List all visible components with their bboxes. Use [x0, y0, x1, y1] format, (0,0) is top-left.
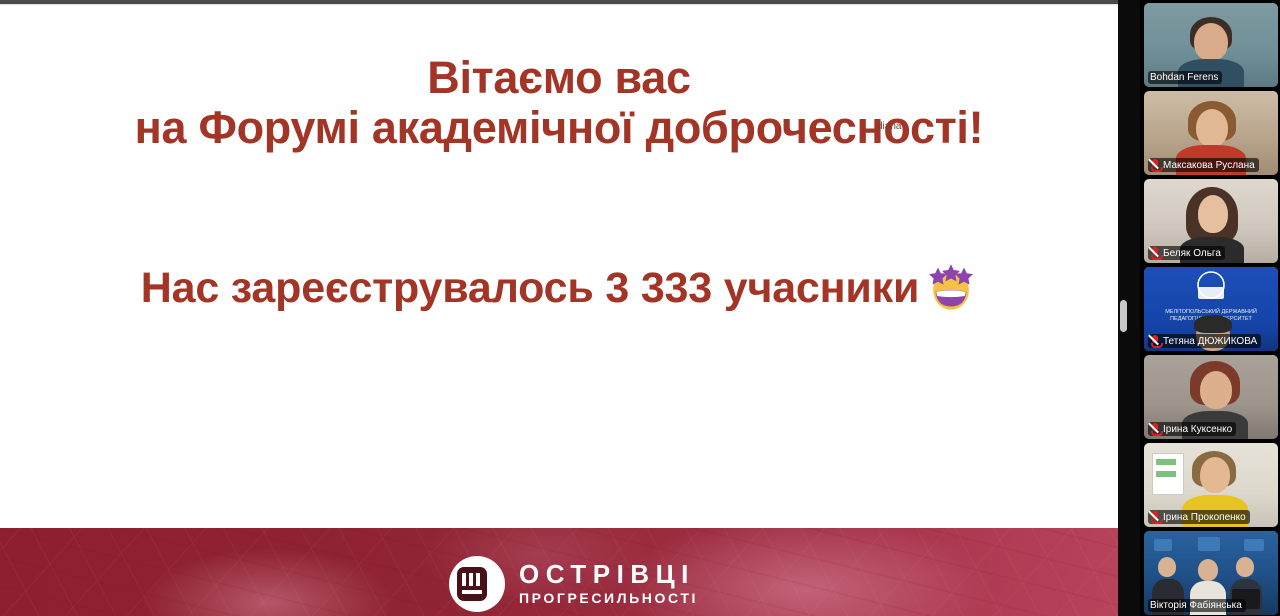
participant-name-badge: Беляк Ольга [1148, 246, 1225, 260]
participant-tile[interactable]: Bohdan Ferens [1144, 3, 1278, 87]
slide-subtitle: Нас зареєструвалось 3 333 учасники [0, 261, 1118, 313]
collapse-panel-handle[interactable] [1120, 300, 1127, 332]
participant-name: Ірина Куксенко [1163, 424, 1232, 435]
shared-screen-area[interactable]: Вітаємо вас на Форумі академічної доброч… [0, 5, 1118, 616]
participant-name: Беляк Ольга [1163, 248, 1221, 259]
presentation-slide: Вітаємо вас на Форумі академічної доброч… [0, 5, 1118, 616]
mic-muted-icon [1150, 423, 1160, 435]
participant-name-badge: Ірина Куксенко [1148, 422, 1236, 436]
mic-muted-icon [1150, 247, 1160, 259]
participant-tile[interactable]: Ірина Прокопенко [1144, 443, 1278, 527]
participant-filmstrip[interactable]: Bohdan Ferens Максакова Руслана [1140, 0, 1280, 616]
brand-tagline: ПРОГРЕСИЛЬНОСТІ [519, 590, 698, 607]
mic-muted-icon [1150, 335, 1160, 347]
participant-name-badge: Bohdan Ferens [1148, 71, 1222, 84]
participant-name-badge: Ірина Прокопенко [1148, 510, 1250, 524]
participant-name: Вікторія Фабіянська [1150, 600, 1242, 611]
mic-muted-icon [1150, 511, 1160, 523]
participant-name-badge: Тетяна ДЮЖИКОВА [1148, 334, 1261, 348]
ostrivtsi-logo-icon [449, 556, 505, 612]
participant-tile[interactable]: Беляк Ольга [1144, 179, 1278, 263]
participant-name: Тетяна ДЮЖИКОВА [1163, 336, 1257, 347]
registered-count: 3 333 [605, 264, 712, 312]
participant-tile[interactable]: МЕЛІТОПОЛЬСЬКИЙ ДЕРЖАВНИЙ ПЕДАГОГІЧНИЙ У… [1144, 267, 1278, 351]
participant-tile[interactable]: Максакова Руслана [1144, 91, 1278, 175]
participant-name: Bohdan Ferens [1150, 72, 1218, 83]
participant-name: Ірина Прокопенко [1163, 512, 1246, 523]
participant-name-badge: Вікторія Фабіянська [1148, 599, 1246, 612]
slide-title: Вітаємо вас на Форумі академічної доброч… [0, 53, 1118, 154]
participant-name: Максакова Руслана [1163, 160, 1255, 171]
mic-muted-icon [1150, 159, 1160, 171]
brand-lockup: ОСТРІВЦІ ПРОГРЕСИЛЬНОСТІ [449, 556, 698, 612]
meeting-window: Вітаємо вас на Форумі академічної доброч… [0, 0, 1280, 616]
slide-subtitle-prefix: Нас зареєструвалось [141, 264, 606, 312]
participant-name-badge: Максакова Руслана [1148, 158, 1259, 172]
star-struck-emoji [925, 261, 977, 313]
brand-name: ОСТРІВЦІ [519, 561, 698, 588]
slide-subtitle-suffix: учасники [712, 264, 919, 312]
svg-text:МЕЛІТОПОЛЬСЬКИЙ ДЕРЖАВНИЙ: МЕЛІТОПОЛЬСЬКИЙ ДЕРЖАВНИЙ [1165, 307, 1257, 315]
participant-tile[interactable]: Ірина Куксенко [1144, 355, 1278, 439]
participant-tile[interactable]: Вікторія Фабіянська [1144, 531, 1278, 615]
